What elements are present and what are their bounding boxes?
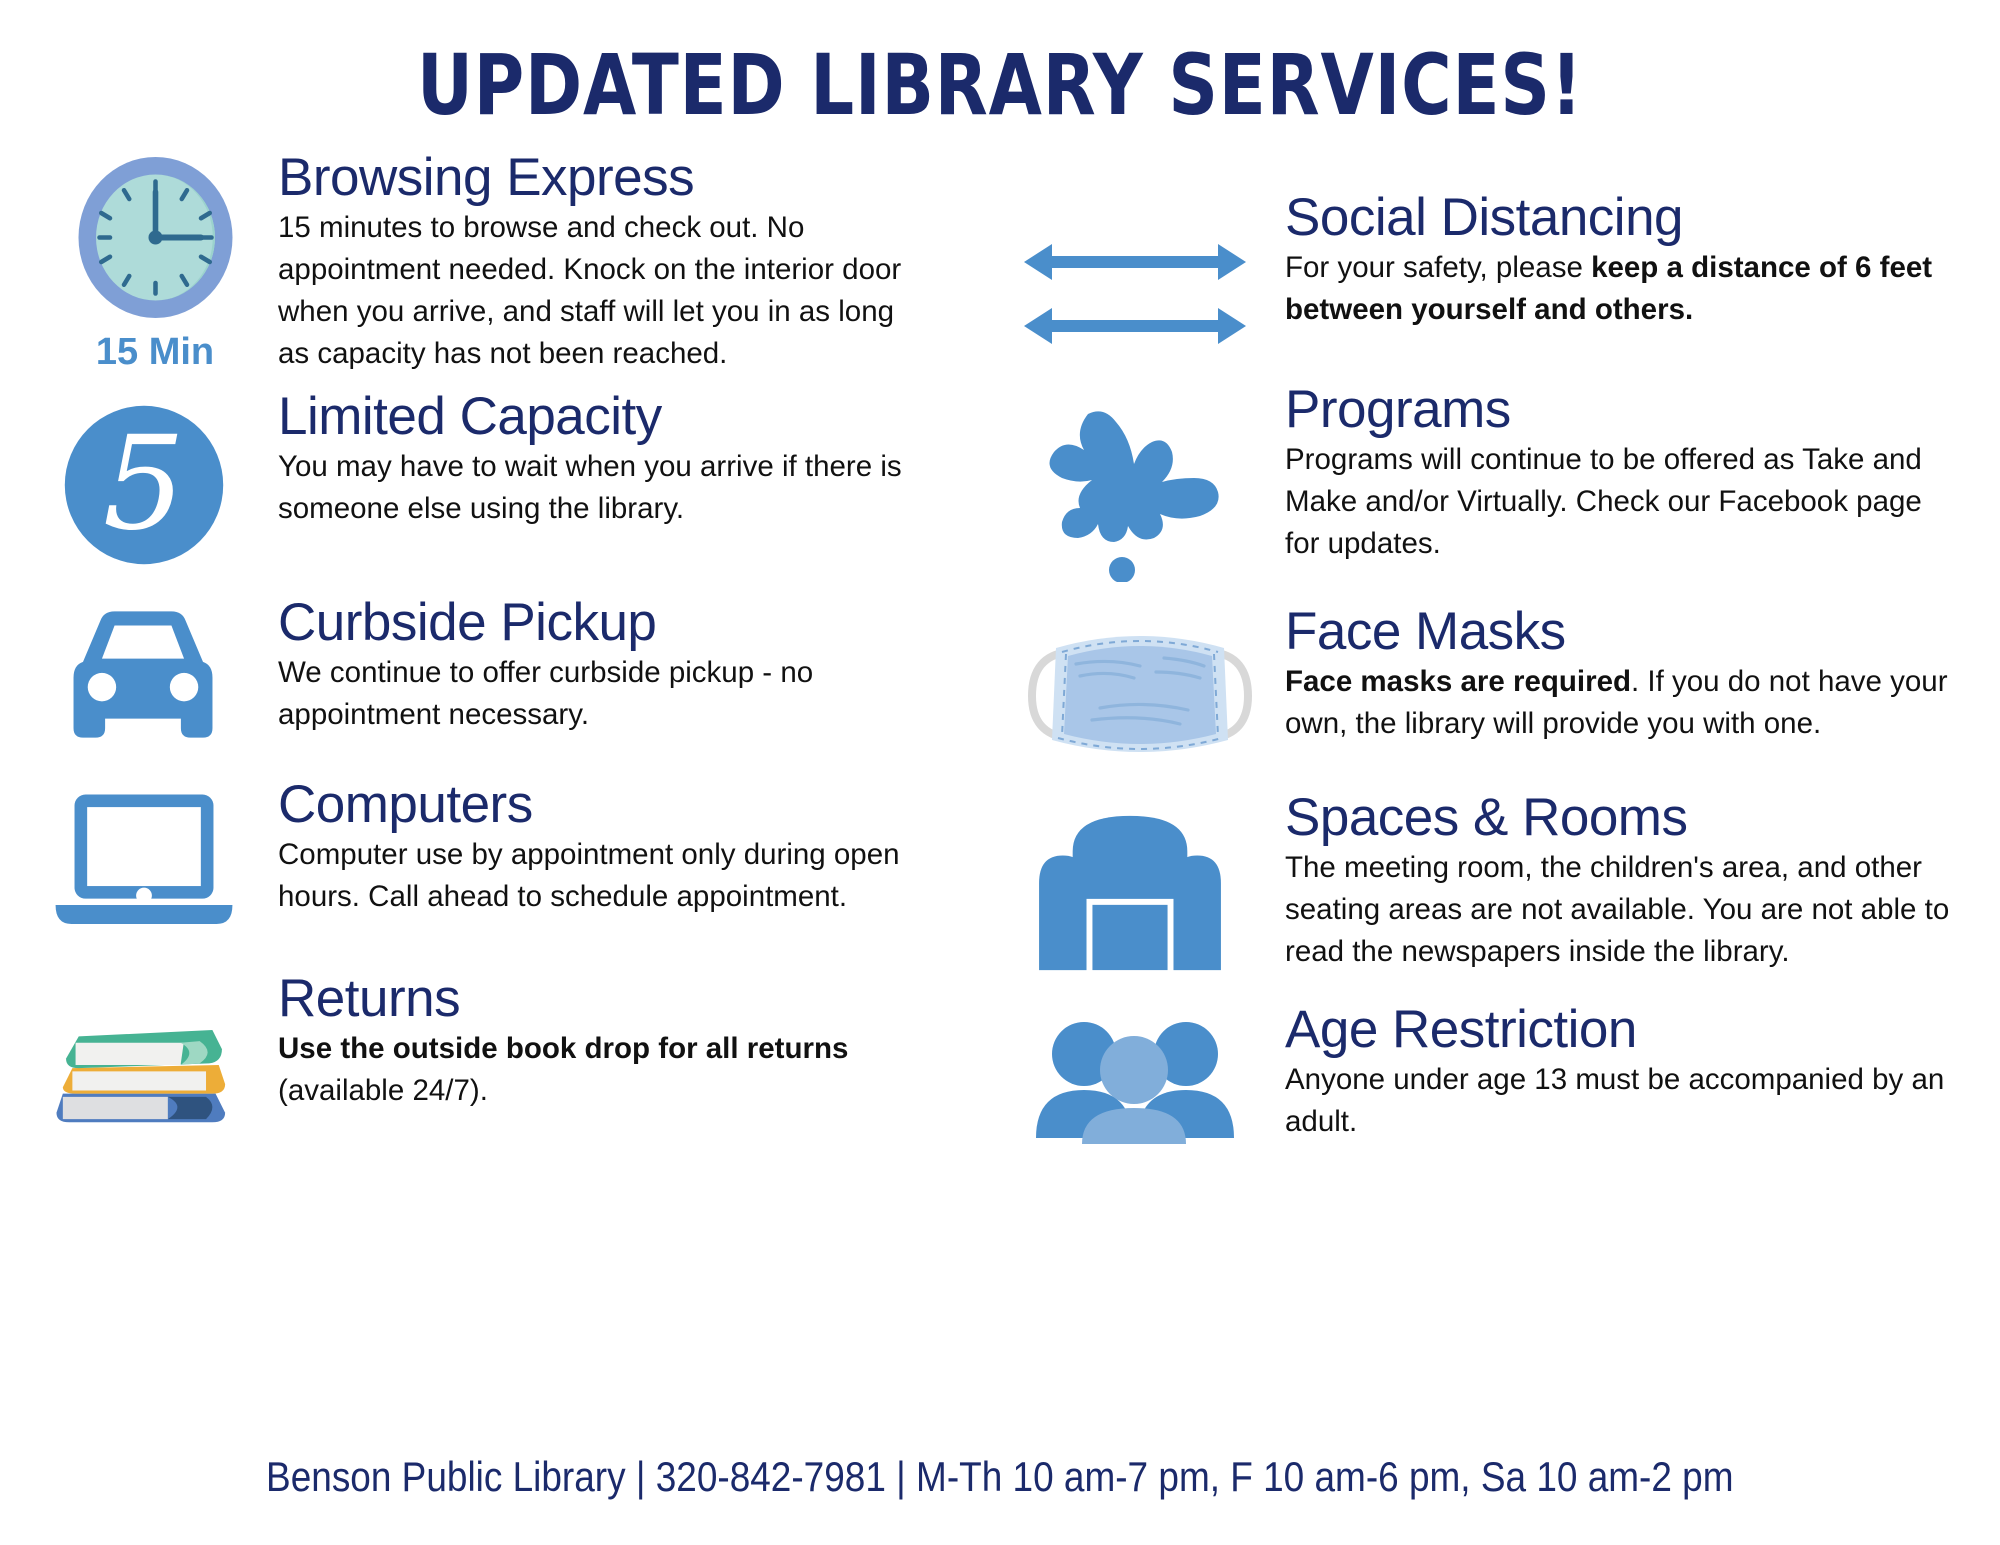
heading-browsing-express: Browsing Express bbox=[278, 150, 930, 205]
number-five-circle-icon: 5 bbox=[54, 395, 234, 575]
heading-spaces-rooms: Spaces & Rooms bbox=[1285, 790, 1960, 845]
body-face-masks: Face masks are required. If you do not h… bbox=[1285, 661, 1960, 745]
clock-icon bbox=[68, 150, 243, 325]
section-limited-capacity: 5 Limited Capacity You may have to wait … bbox=[40, 389, 930, 575]
text-cell: Limited Capacity You may have to wait wh… bbox=[270, 389, 930, 530]
text-cell: Computers Computer use by appointment on… bbox=[270, 777, 930, 918]
paint-splat-icon bbox=[1030, 402, 1230, 582]
left-column: 15 Min Browsing Express 15 minutes to br… bbox=[40, 150, 930, 1141]
footer-text: Benson Public Library | 320-842-7981 | M… bbox=[266, 1453, 1733, 1501]
body-spaces-rooms: The meeting room, the children's area, a… bbox=[1285, 847, 1960, 973]
right-column: Social Distancing For your safety, pleas… bbox=[1020, 190, 1960, 1150]
body-age-restriction: Anyone under age 13 must be accompanied … bbox=[1285, 1059, 1960, 1143]
section-browsing-express: 15 Min Browsing Express 15 minutes to br… bbox=[40, 150, 930, 375]
text-cell: Social Distancing For your safety, pleas… bbox=[1275, 190, 1960, 331]
heading-face-masks: Face Masks bbox=[1285, 604, 1960, 659]
body-browsing-express: 15 minutes to browse and check out. No a… bbox=[278, 207, 930, 375]
heading-computers: Computers bbox=[278, 777, 930, 832]
heading-programs: Programs bbox=[1285, 382, 1960, 437]
text-cell: Programs Programs will continue to be of… bbox=[1275, 376, 1960, 565]
body-social-distancing: For your safety, please keep a distance … bbox=[1285, 247, 1960, 331]
heading-limited-capacity: Limited Capacity bbox=[278, 389, 930, 444]
section-social-distancing: Social Distancing For your safety, pleas… bbox=[1020, 190, 1960, 354]
heading-social-distancing: Social Distancing bbox=[1285, 190, 1960, 245]
section-returns: Returns Use the outside book drop for al… bbox=[40, 965, 930, 1135]
page-title: UPDATED LIBRARY SERVICES! bbox=[180, 36, 1820, 134]
text-cell: Browsing Express 15 minutes to browse an… bbox=[270, 150, 930, 375]
laptop-icon bbox=[46, 785, 242, 935]
text-cell: Age Restriction Anyone under age 13 must… bbox=[1275, 1000, 1960, 1143]
footer-contact-info: Benson Public Library | 320-842-7981 | M… bbox=[0, 1453, 2000, 1501]
icon-cell bbox=[40, 595, 270, 755]
icon-cell bbox=[40, 777, 270, 935]
double-arrow-icon bbox=[1020, 234, 1250, 354]
text-cell: Face Masks Face masks are required. If y… bbox=[1275, 600, 1960, 745]
heading-curbside-pickup: Curbside Pickup bbox=[278, 595, 930, 650]
text-cell: Returns Use the outside book drop for al… bbox=[270, 965, 930, 1112]
armchair-icon bbox=[1030, 808, 1230, 978]
icon-cell: 15 Min bbox=[40, 150, 270, 374]
icon-cell bbox=[1020, 600, 1275, 770]
clock-icon-label: 15 Min bbox=[96, 331, 214, 374]
section-curbside-pickup: Curbside Pickup We continue to offer cur… bbox=[40, 595, 930, 755]
body-returns-plain: (available 24/7). bbox=[278, 1074, 488, 1107]
body-limited-capacity: You may have to wait when you arrive if … bbox=[278, 446, 930, 530]
section-age-restriction: Age Restriction Anyone under age 13 must… bbox=[1020, 1000, 1960, 1144]
heading-age-restriction: Age Restriction bbox=[1285, 1002, 1960, 1057]
text-cell: Curbside Pickup We continue to offer cur… bbox=[270, 595, 930, 736]
heading-returns: Returns bbox=[278, 971, 930, 1026]
icon-cell bbox=[40, 965, 270, 1135]
books-stack-icon bbox=[40, 995, 240, 1135]
text-cell: Spaces & Rooms The meeting room, the chi… bbox=[1275, 790, 1960, 973]
svg-text:5: 5 bbox=[103, 408, 185, 559]
icon-cell bbox=[1020, 190, 1275, 354]
body-returns: Use the outside book drop for all return… bbox=[278, 1028, 930, 1112]
clock-icon-wrap: 15 Min bbox=[40, 150, 270, 374]
body-curbside-pickup: We continue to offer curbside pickup - n… bbox=[278, 652, 930, 736]
section-computers: Computers Computer use by appointment on… bbox=[40, 777, 930, 935]
section-programs: Programs Programs will continue to be of… bbox=[1020, 376, 1960, 582]
body-computers: Computer use by appointment only during … bbox=[278, 834, 930, 918]
icon-cell bbox=[1020, 1000, 1275, 1144]
body-social-distancing-plain: For your safety, please bbox=[1285, 251, 1591, 284]
face-mask-icon bbox=[1020, 620, 1260, 770]
body-returns-bold: Use the outside book drop for all return… bbox=[278, 1032, 848, 1065]
section-face-masks: Face Masks Face masks are required. If y… bbox=[1020, 600, 1960, 770]
section-spaces-rooms: Spaces & Rooms The meeting room, the chi… bbox=[1020, 790, 1960, 978]
icon-cell bbox=[1020, 376, 1275, 582]
icon-cell: 5 bbox=[40, 389, 270, 575]
poster-canvas: UPDATED LIBRARY SERVICES! bbox=[0, 0, 2000, 1545]
people-group-icon bbox=[1020, 1014, 1250, 1144]
car-icon bbox=[48, 605, 238, 755]
body-programs: Programs will continue to be offered as … bbox=[1285, 439, 1960, 565]
icon-cell bbox=[1020, 790, 1275, 978]
body-face-masks-bold: Face masks are required bbox=[1285, 665, 1631, 698]
